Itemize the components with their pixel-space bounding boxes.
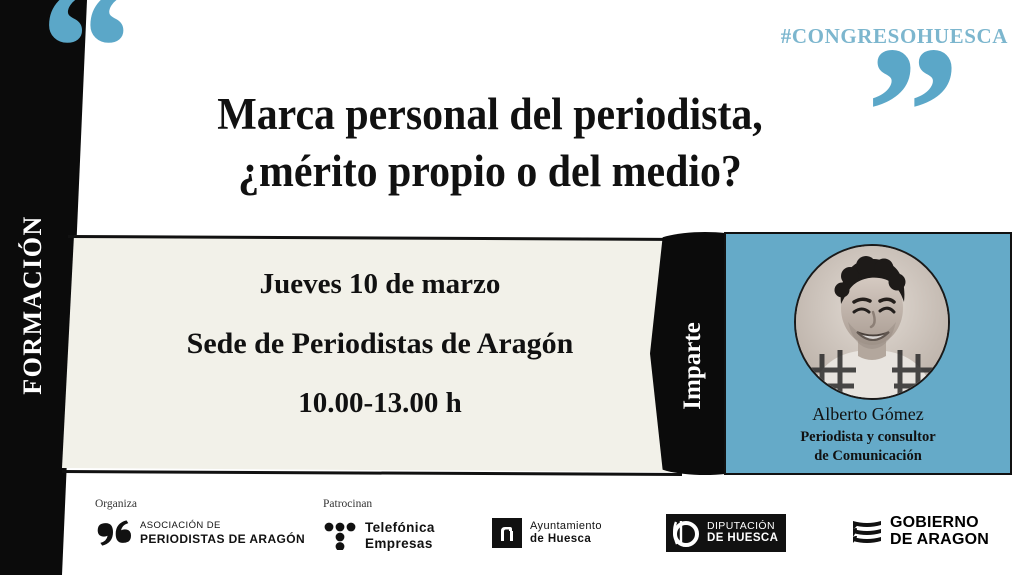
diputacion-circle-icon <box>670 518 700 548</box>
logo-ayuntamiento-line-2: de Huesca <box>530 533 602 547</box>
logo-diputacion-huesca: DIPUTACIÓN DE HUESCA <box>666 514 786 552</box>
logo-telefonica-text: Telefónica Empresas <box>365 520 435 552</box>
title-line-2: ¿mérito propio o del medio? <box>146 143 834 200</box>
logo-gobierno-text: GOBIERNO DE ARAGON <box>890 514 989 549</box>
logo-ayuntamiento-text: Ayuntamiento de Huesca <box>530 520 602 547</box>
diputacion-panel: DIPUTACIÓN DE HUESCA <box>666 514 786 552</box>
logo-asociacion-line-2: PERIODISTAS DE ARAGÓN <box>140 532 305 546</box>
footer: Organiza ASOCIACIÓN DE PERIODISTAS DE AR… <box>0 478 1024 575</box>
logo-gobierno-aragon: GOBIERNO DE ARAGON <box>851 514 989 549</box>
logo-telefonica-empresas: Telefónica Empresas <box>323 520 435 552</box>
speaker-portrait-illustration <box>796 246 948 398</box>
ayuntamiento-dog-icon <box>492 518 522 548</box>
quote-open-icon: “ <box>40 0 130 142</box>
event-date: Jueves 10 de marzo <box>120 268 640 301</box>
logo-gobierno-line-1: GOBIERNO <box>890 514 989 531</box>
logo-gobierno-line-2: DE ARAGON <box>890 531 989 548</box>
logo-diputacion-line-2: DE HUESCA <box>707 532 778 546</box>
telefonica-dots-icon <box>323 522 357 550</box>
apa-quote-mark-icon <box>95 520 131 546</box>
ayuntamiento-dog-glyph <box>492 518 522 548</box>
logo-diputacion-line-1: DIPUTACIÓN <box>707 520 778 533</box>
speaker-section-label: Imparte <box>679 281 707 451</box>
logo-asociacion-line-1: ASOCIACIÓN DE <box>140 520 305 531</box>
logo-ayuntamiento-line-1: Ayuntamiento <box>530 520 602 533</box>
logo-ayuntamiento-huesca: Ayuntamiento de Huesca <box>492 518 602 548</box>
speaker-name: Alberto Gómez <box>724 404 1012 425</box>
organiza-label: Organiza <box>95 498 137 510</box>
category-label: FORMACIÓN <box>18 210 48 400</box>
quote-close-icon: ” <box>866 18 956 206</box>
logo-telefonica-line-2: Empresas <box>365 536 435 552</box>
poster-title: Marca personal del periodista, ¿mérito p… <box>146 86 834 199</box>
patrocinan-label: Patrocinan <box>323 498 372 510</box>
logo-asociacion-periodistas-aragon: ASOCIACIÓN DE PERIODISTAS DE ARAGÓN <box>95 520 305 546</box>
logo-diputacion-text: DIPUTACIÓN DE HUESCA <box>707 520 778 546</box>
speaker-avatar <box>794 244 950 400</box>
gobierno-aragon-mark-icon <box>851 519 883 543</box>
event-time: 10.00-13.00 h <box>120 387 640 420</box>
event-details: Jueves 10 de marzo Sede de Periodistas d… <box>120 268 640 446</box>
speaker-role-line-1: Periodista y consultor <box>724 428 1012 447</box>
title-line-1: Marca personal del periodista, <box>146 86 834 143</box>
logo-telefonica-line-1: Telefónica <box>365 520 435 536</box>
event-poster: FORMACIÓN #CONGRESOHUESCA “ ” Marca pers… <box>0 0 1024 575</box>
speaker-role-line-2: de Comunicación <box>724 447 1012 466</box>
event-venue: Sede de Periodistas de Aragón <box>120 327 640 361</box>
logo-asociacion-text: ASOCIACIÓN DE PERIODISTAS DE ARAGÓN <box>140 520 305 545</box>
speaker-role: Periodista y consultor de Comunicación <box>724 428 1012 466</box>
